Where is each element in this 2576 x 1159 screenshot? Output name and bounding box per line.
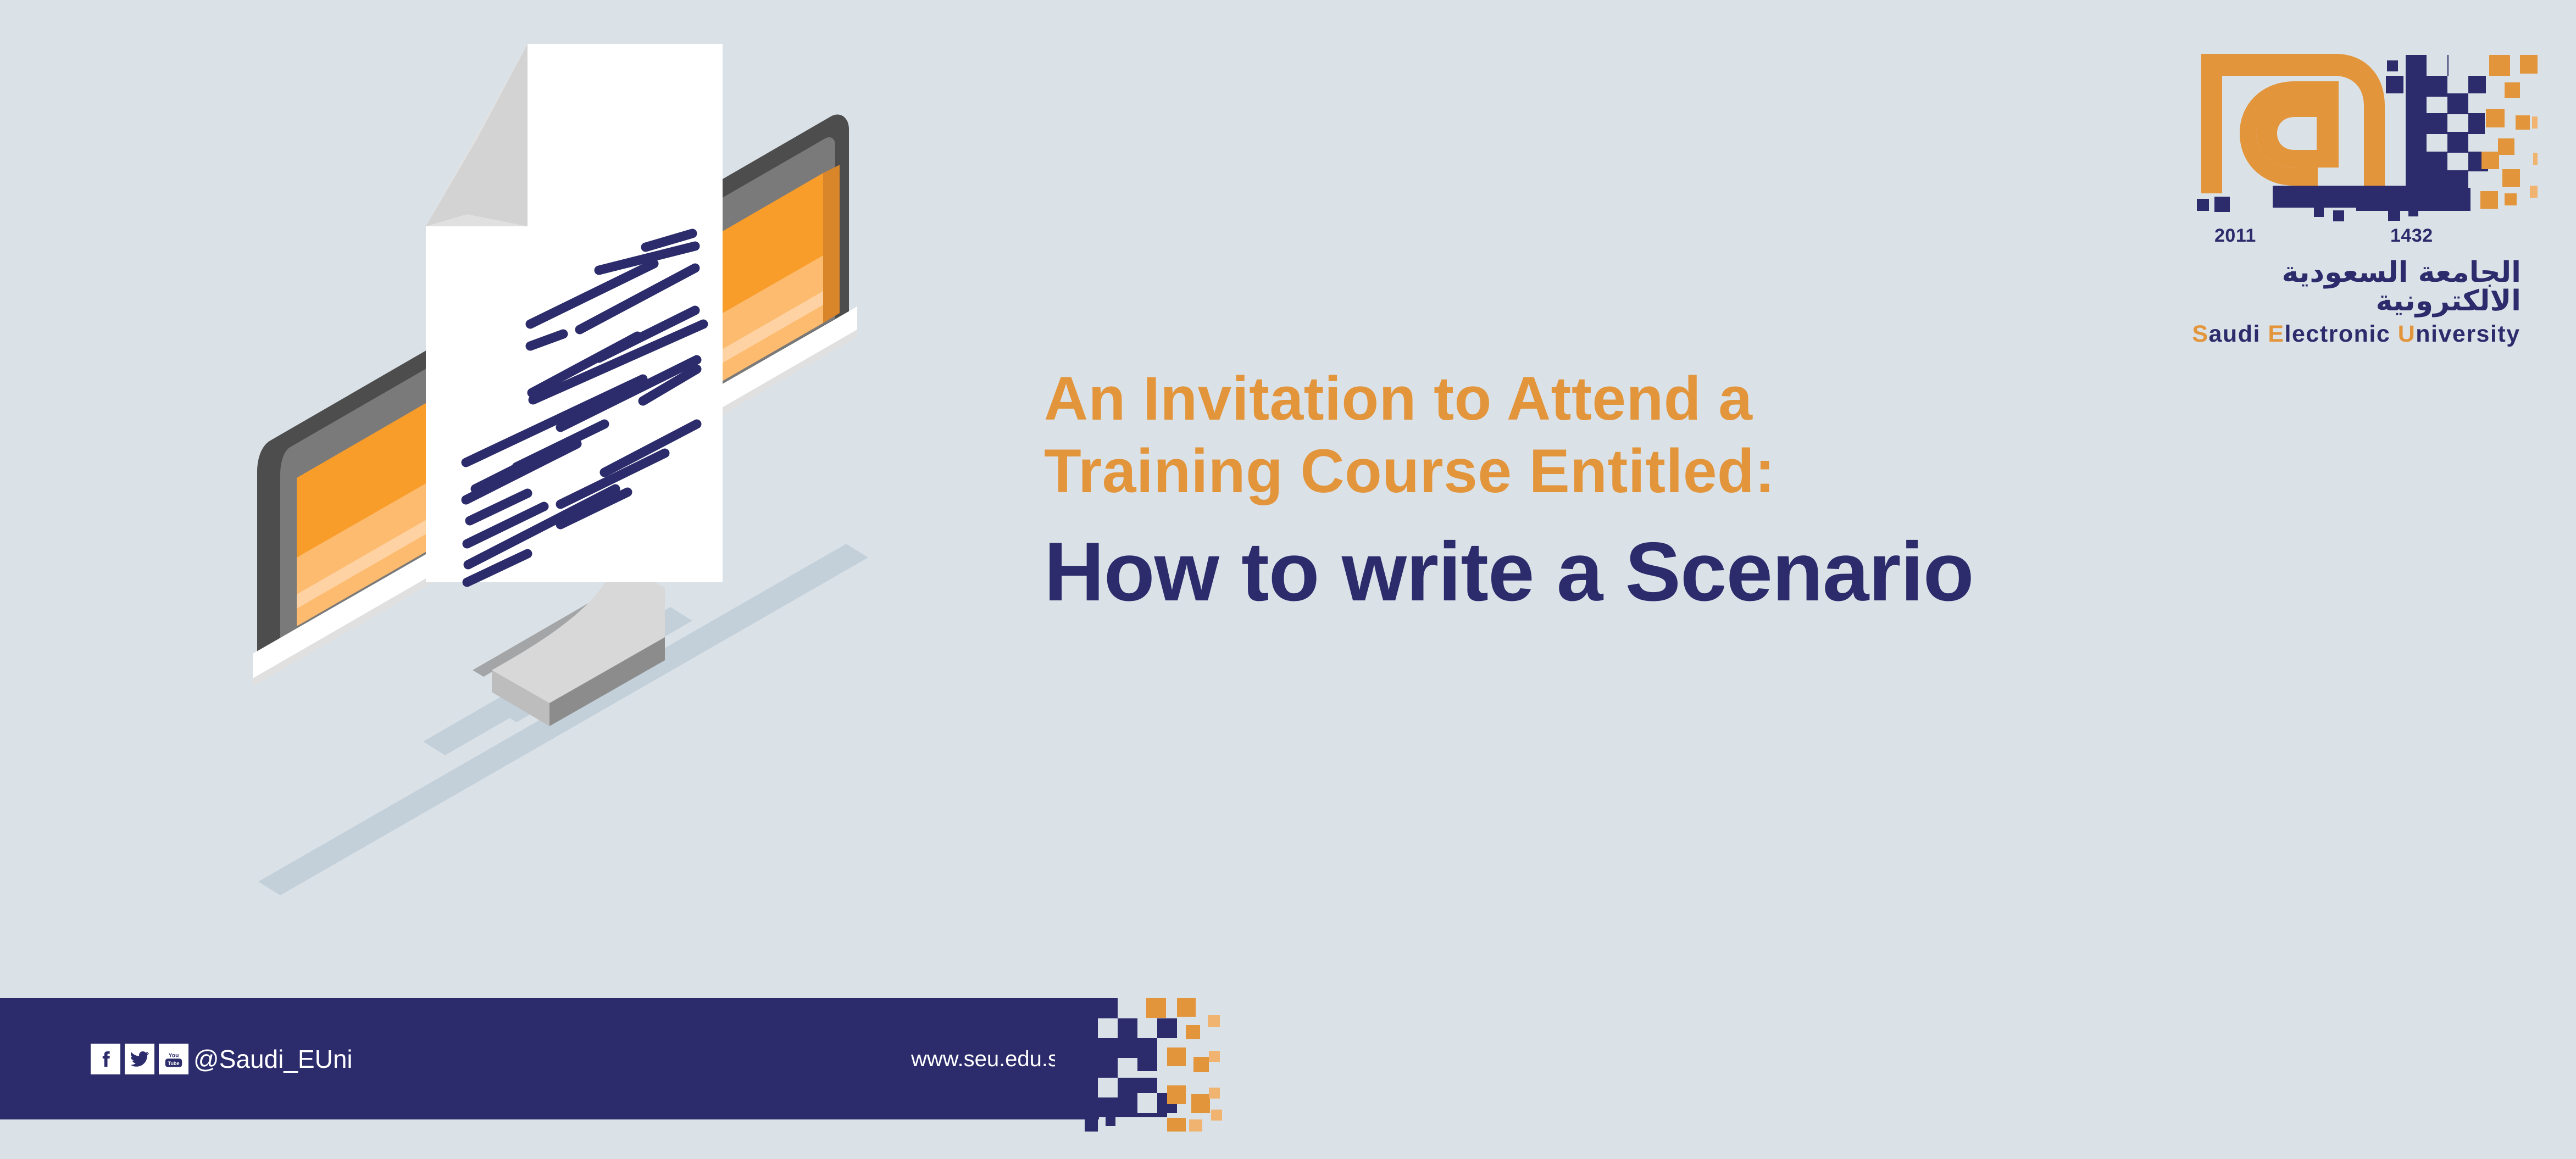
logo-en-s: S (2192, 321, 2208, 347)
footer-pixel-decoration (1055, 989, 1286, 1132)
logo-en-u: U (2398, 321, 2416, 347)
logo-en-university-rest: niversity (2416, 321, 2520, 347)
logo-year-row: 2011 1432 (2175, 225, 2538, 248)
university-logo: 2011 1432 الجامعة السعودية الالكترونية S… (2175, 44, 2538, 330)
svg-text:You: You (169, 1053, 179, 1059)
logo-english-name: Saudi Electronic University (2191, 321, 2521, 348)
monitor-document-illustration (220, 33, 907, 912)
youtube-icon[interactable]: You Tube (159, 1044, 188, 1074)
poster-canvas: An Invitation to Attend a Training Cours… (0, 0, 2576, 1159)
at-symbol-icon (2201, 54, 2385, 193)
headline-line-1: An Invitation to Attend a (1044, 363, 2469, 435)
website-url[interactable]: www.seu.edu.sa (911, 1044, 1071, 1074)
logo-arabic-name: الجامعة السعودية الالكترونية (2191, 258, 2521, 315)
facebook-icon[interactable] (91, 1044, 120, 1074)
year-hijri: 1432 (2390, 225, 2433, 247)
logo-en-e: E (2268, 321, 2284, 347)
headline-block: An Invitation to Attend a Training Cours… (1044, 363, 2484, 616)
orange-pixel-scatter-icon (2480, 55, 2538, 209)
svg-text:Tube: Tube (168, 1061, 179, 1066)
logo-en-electronic-rest: lectronic (2285, 321, 2398, 347)
twitter-icon[interactable] (125, 1044, 154, 1074)
logo-en-saudi-rest: audi (2209, 321, 2268, 347)
course-title: How to write a Scenario (1044, 528, 2484, 616)
social-links: You Tube (91, 1044, 188, 1074)
logo-mark-icon (2175, 44, 2538, 225)
social-handle: @Saudi_EUni (193, 1043, 353, 1076)
year-gregorian: 2011 (2214, 225, 2256, 247)
headline-line-2: Training Course Entitled: (1044, 435, 2469, 508)
